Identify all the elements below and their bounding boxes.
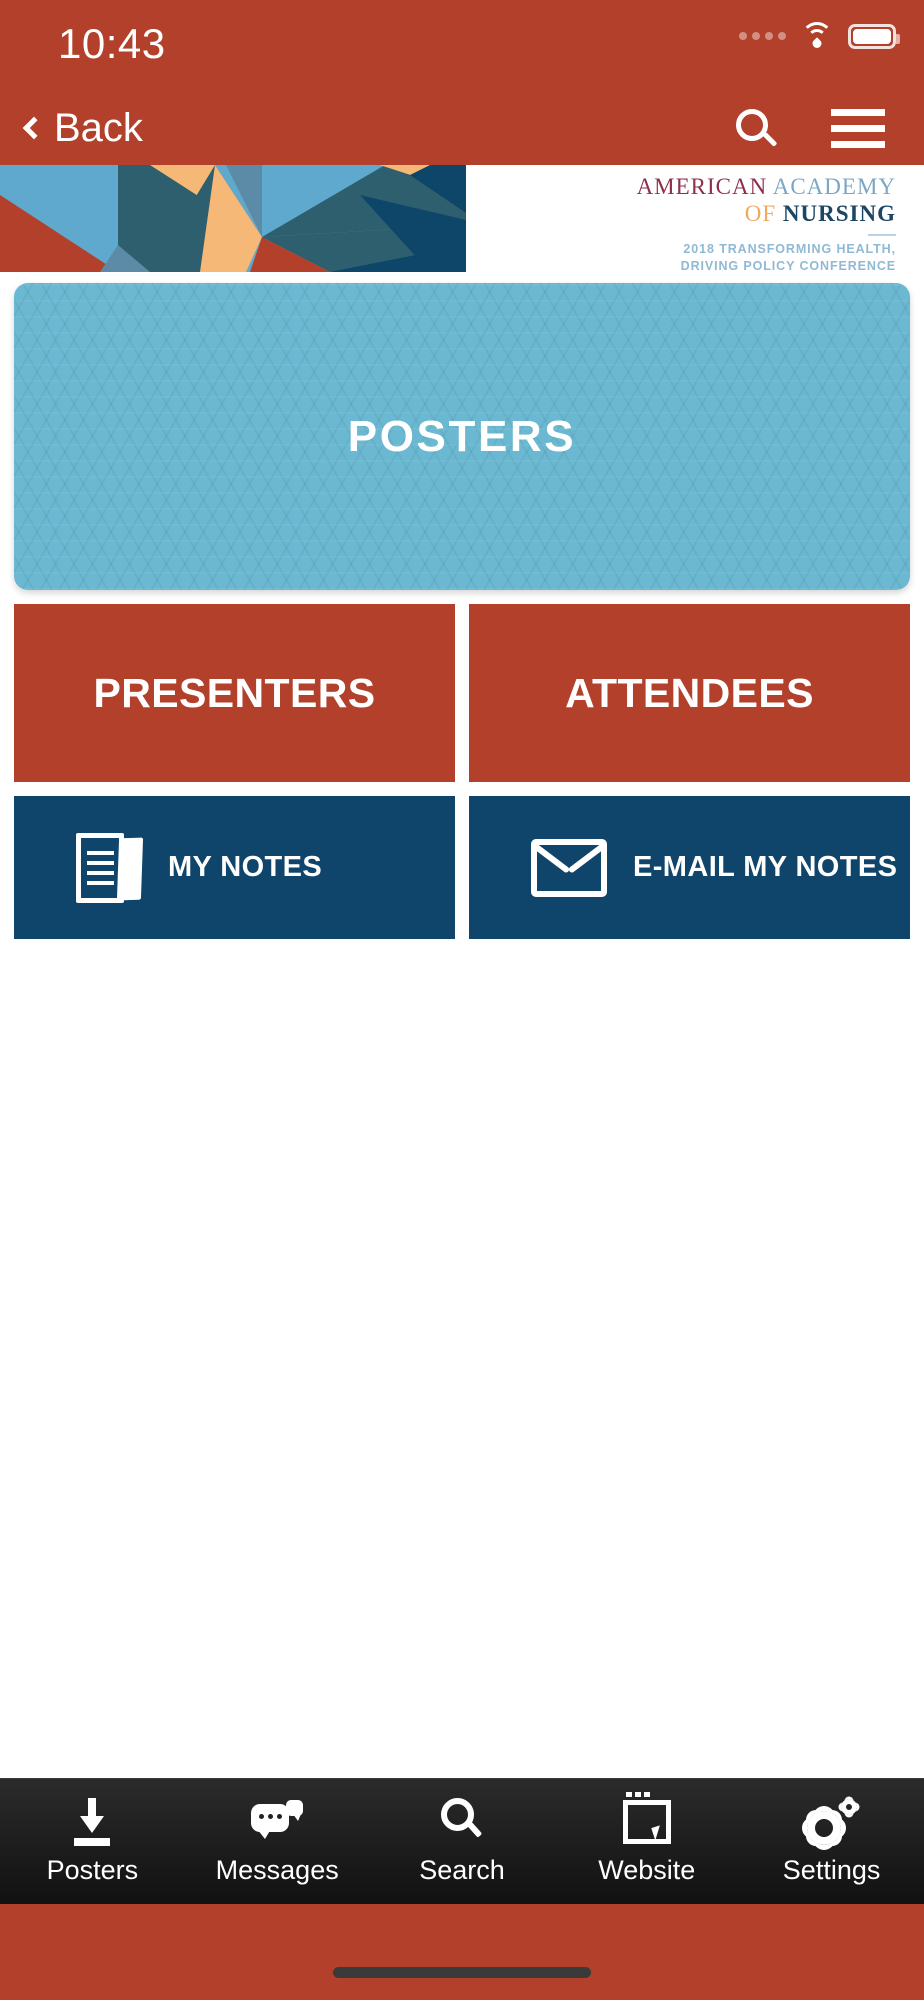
tile-row-notes: MY NOTES E-MAIL MY NOTES [0,796,924,939]
app-screen: 10:43 Back [0,0,924,2000]
tab-posters-label: Posters [47,1855,139,1886]
aan-logo: AMERICAN ACADEMY OF NURSING 2018 TRANSFO… [637,173,896,272]
tab-website[interactable]: Website [554,1779,739,1904]
signal-dots-icon [739,32,786,40]
bottom-tab-bar: Posters Messages Search Website [0,1778,924,1904]
tab-posters[interactable]: Posters [0,1779,185,1904]
tab-messages-label: Messages [216,1855,339,1886]
tile-presenters[interactable]: PRESENTERS [14,604,455,782]
logo-word-of: OF [745,201,776,226]
nav-bar: Back [0,92,924,165]
status-time: 10:43 [58,20,166,68]
download-arrow-icon [69,1798,115,1846]
tile-my-notes[interactable]: MY NOTES [14,796,455,939]
tile-grid: POSTERS PRESENTERS ATTENDEES MY NOTES [0,283,924,939]
notes-stack-icon [76,833,142,903]
hamburger-menu-button[interactable] [816,92,900,165]
back-button[interactable]: Back [14,92,155,165]
envelope-icon [531,839,607,897]
logo-word-nursing: NURSING [783,201,896,226]
logo-word-american: AMERICAN [637,174,768,199]
hamburger-menu-icon [831,109,885,116]
conference-banner: AMERICAN ACADEMY OF NURSING 2018 TRANSFO… [0,165,924,272]
chat-bubbles-icon [251,1800,303,1844]
tab-search[interactable]: Search [370,1779,555,1904]
tile-posters[interactable]: POSTERS [14,283,910,590]
tile-row-people: PRESENTERS ATTENDEES [0,604,924,782]
search-icon [736,109,776,149]
tab-messages[interactable]: Messages [185,1779,370,1904]
gears-icon [807,1799,857,1845]
home-indicator-area [0,1904,924,2000]
tile-email-my-notes[interactable]: E-MAIL MY NOTES [469,796,910,939]
conference-subtitle-line1: 2018 TRANSFORMING HEALTH, [637,241,896,258]
tile-presenters-label: PRESENTERS [94,670,376,717]
chevron-left-icon [23,116,46,139]
status-indicators [739,22,896,50]
tab-search-label: Search [419,1855,505,1886]
tile-email-my-notes-label: E-MAIL MY NOTES [633,850,897,885]
tab-settings-label: Settings [783,1855,881,1886]
tile-attendees[interactable]: ATTENDEES [469,604,910,782]
geometric-pattern-graphic [0,165,466,272]
wifi-icon [800,22,834,50]
browser-window-cursor-icon [623,1800,671,1844]
search-icon [439,1798,485,1846]
tile-posters-label: POSTERS [348,412,576,462]
back-button-label: Back [54,106,143,151]
logo-divider [868,234,896,236]
tab-settings[interactable]: Settings [739,1779,924,1904]
tile-attendees-label: ATTENDEES [565,670,814,717]
battery-full-icon [848,24,896,49]
tab-website-label: Website [598,1855,695,1886]
home-bar-icon[interactable] [333,1967,591,1978]
search-button[interactable] [716,92,796,165]
status-bar: 10:43 [0,0,924,92]
conference-subtitle-line2: DRIVING POLICY CONFERENCE [637,258,896,272]
tile-my-notes-label: MY NOTES [168,850,322,885]
logo-word-academy: ACADEMY [773,174,896,199]
